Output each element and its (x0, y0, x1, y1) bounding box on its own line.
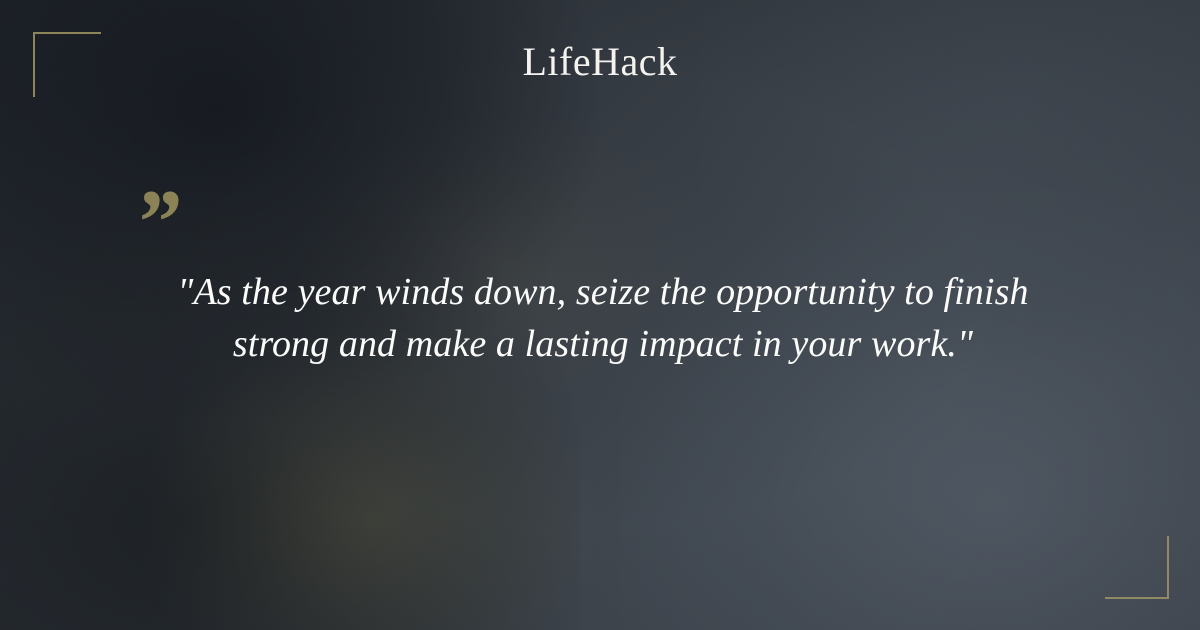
quotation-mark-icon: ” (134, 176, 194, 246)
corner-bracket-bottom-right-icon (1105, 536, 1169, 599)
quote-card: LifeHack ” "As the year winds down, seiz… (0, 0, 1200, 630)
quote-text: "As the year winds down, seize the oppor… (118, 266, 1088, 370)
quote-line-1: "As the year winds down, seize the oppor… (118, 266, 1088, 318)
brand-logo: LifeHack (0, 39, 1200, 85)
quote-line-2: strong and make a lasting impact in your… (118, 318, 1088, 370)
